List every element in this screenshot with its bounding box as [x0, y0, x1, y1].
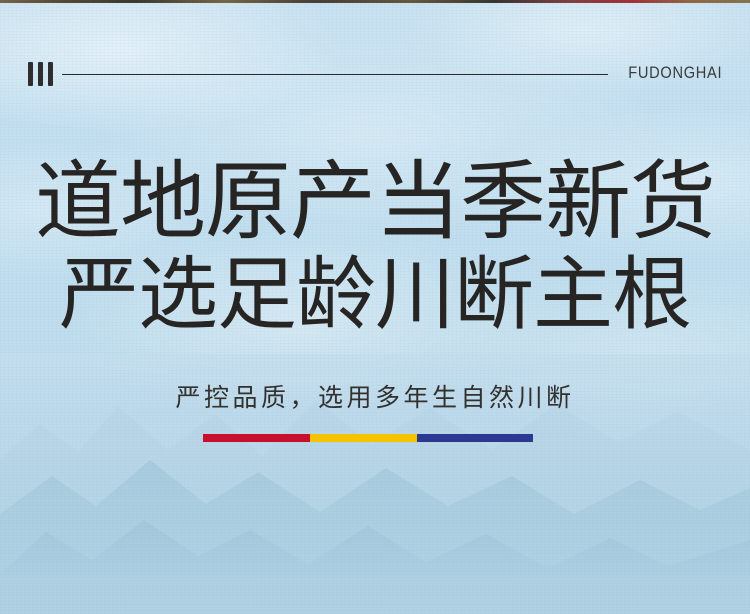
divider-segment-yellow — [310, 434, 417, 442]
divider-segment-red — [203, 434, 310, 442]
headline-line-1: 道地原产当季新货 — [0, 152, 750, 252]
three-bars-icon — [28, 62, 53, 86]
logo-bar-3 — [48, 62, 53, 86]
subtitle: 严控品质，选用多年生自然川断 — [0, 381, 750, 415]
headline-line-2: 严选足龄川断主根 — [0, 252, 750, 340]
top-edge-strip — [0, 0, 750, 3]
header-divider-line — [62, 74, 608, 75]
brand-name: FUDONGHAI — [628, 62, 722, 84]
logo-bar-2 — [38, 62, 43, 86]
promo-banner: FUDONGHAI 道地原产当季新货 严选足龄川断主根 严控品质，选用多年生自然… — [0, 0, 750, 614]
divider-segment-blue — [417, 434, 533, 442]
logo-bar-1 — [28, 62, 33, 86]
banner-header: FUDONGHAI — [28, 58, 722, 90]
tricolor-divider — [203, 434, 533, 442]
headline: 道地原产当季新货 严选足龄川断主根 — [0, 152, 750, 340]
